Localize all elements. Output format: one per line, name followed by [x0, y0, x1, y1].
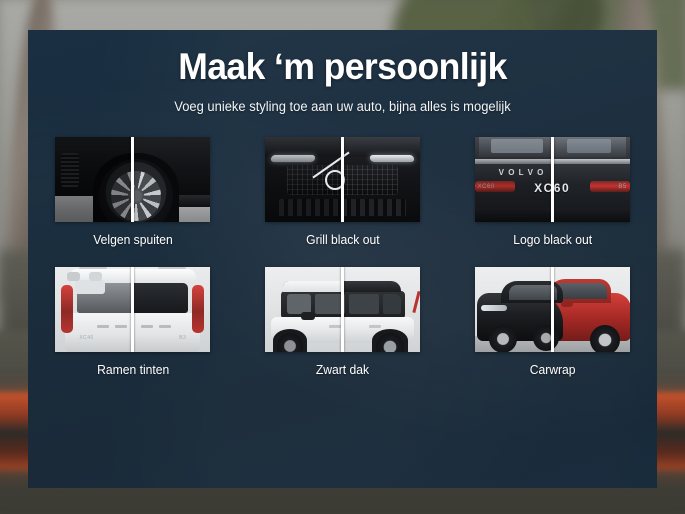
taillight-edge — [412, 291, 420, 313]
before-after-slider-line[interactable] — [341, 267, 344, 352]
headrest-right — [89, 272, 102, 281]
before-after-slider-line[interactable] — [131, 267, 134, 352]
badge-right: B5 — [618, 184, 626, 190]
option-card-label: Velgen spuiten — [93, 233, 173, 247]
trim-detail-4 — [159, 325, 171, 328]
grille-before-after-thumbnail[interactable] — [265, 137, 420, 222]
door-handle-front — [329, 325, 341, 328]
option-card-label: Logo black out — [513, 233, 592, 247]
option-card-label: Ramen tinten — [97, 363, 169, 377]
side-sill-detail — [175, 195, 210, 207]
car-red-mirror — [561, 301, 573, 307]
seat-back — [75, 280, 105, 294]
option-card-grid: Velgen spuiten Grill black out — [28, 137, 657, 377]
wheel-black-rear — [533, 325, 559, 351]
before-half-overlay — [475, 137, 553, 222]
window-tint-before-after-thumbnail[interactable]: XC40 B3 — [55, 267, 210, 352]
option-card-grill-black-out[interactable]: Grill black out — [238, 137, 448, 247]
wheel-black-front — [489, 325, 517, 352]
before-after-slider-line[interactable] — [131, 137, 134, 222]
badge-left: XC40 — [79, 335, 94, 341]
rear-logo-before-after-thumbnail[interactable]: V O L V O XC60 XC60 B5 — [475, 137, 630, 222]
taillight-right — [192, 285, 204, 333]
taillight-left — [61, 285, 73, 333]
trim-detail-2 — [115, 325, 127, 328]
option-card-logo-black-out[interactable]: V O L V O XC60 XC60 B5 Logo black out — [447, 137, 657, 247]
headrest-left — [67, 272, 80, 281]
before-after-slider-line[interactable] — [551, 267, 554, 352]
panel-header: Maak ‘m persoonlijk Voeg unieke styling … — [28, 30, 657, 114]
before-half-overlay — [55, 137, 133, 222]
page-subtitle: Voeg unieke styling toe aan uw auto, bij… — [41, 99, 645, 114]
window-front — [287, 294, 311, 314]
wheel-before-after-thumbnail[interactable] — [55, 137, 210, 222]
option-card-ramen-tinten[interactable]: XC40 B3 Ramen tinten — [28, 267, 238, 377]
option-card-zwart-dak[interactable]: Zwart dak — [238, 267, 448, 377]
option-card-label: Carwrap — [529, 363, 575, 377]
option-card-carwrap[interactable]: Carwrap — [447, 267, 657, 377]
badge-right: B3 — [179, 335, 186, 341]
black-roof-before-after-thumbnail[interactable] — [265, 267, 420, 352]
side-mirror — [301, 312, 315, 320]
window-rear — [383, 294, 401, 314]
roof-panel-white — [283, 281, 341, 292]
car-black-glass — [509, 285, 557, 300]
car-black-headlight — [481, 305, 507, 311]
wheel-red-rear — [590, 325, 620, 352]
carwrap-before-after-thumbnail[interactable] — [475, 267, 630, 352]
before-after-slider-line[interactable] — [551, 137, 554, 222]
option-card-label: Grill black out — [306, 233, 379, 247]
personalization-panel: Maak ‘m persoonlijk Voeg unieke styling … — [28, 30, 657, 488]
trim-detail-1 — [97, 325, 109, 328]
option-card-velgen-spuiten[interactable]: Velgen spuiten — [28, 137, 238, 247]
door-handle-rear — [369, 325, 381, 328]
window-third — [349, 294, 379, 314]
option-card-label: Zwart dak — [316, 363, 369, 377]
trim-detail-3 — [141, 325, 153, 328]
before-after-slider-line[interactable] — [341, 137, 344, 222]
page-title: Maak ‘m persoonlijk — [41, 48, 645, 87]
rear-window-reflection-right — [567, 139, 611, 153]
headlight-right — [369, 155, 414, 162]
